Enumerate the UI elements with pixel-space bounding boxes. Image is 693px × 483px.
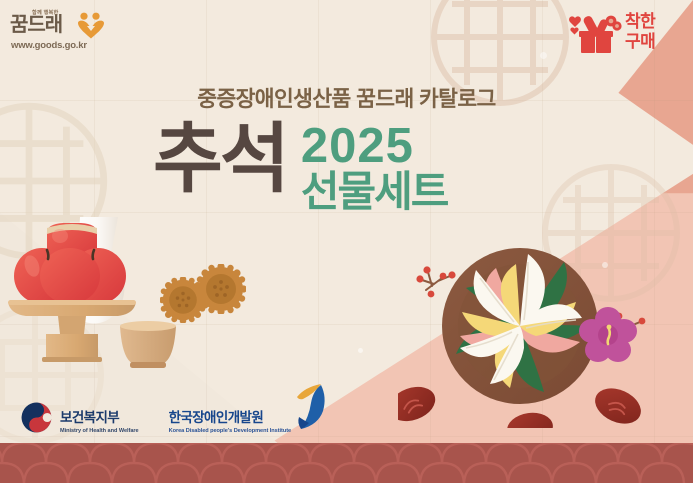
institute-name-ko: 한국장애인개발원 <box>169 406 291 426</box>
songpyeon-plate-illustration <box>398 228 688 433</box>
yakgwa-cookie-illustration <box>160 277 206 328</box>
campaign-line-2: 구매 <box>625 32 655 52</box>
jujube-icon <box>398 381 440 427</box>
bottom-decorative-band <box>0 443 693 483</box>
ministry-name-en: Ministry of Health and Welfare <box>60 428 139 434</box>
catalog-kicker-text: 중증장애인생산품 꿈드래 카탈로그 <box>0 82 693 113</box>
institute-name-en: Korea Disabled people's Development Inst… <box>169 428 291 434</box>
headline-main-chuseok: 추석 <box>153 124 287 197</box>
tea-cup-shape <box>120 321 176 368</box>
decorative-dot <box>358 348 363 353</box>
headline-subtitle: 선물세트 <box>301 171 448 214</box>
cloud-scallop-pattern-icon <box>0 443 693 483</box>
jujube-icon <box>590 382 647 428</box>
decorative-dot <box>540 52 547 59</box>
goods-kr-logo[interactable]: 함께 행복한 꿈드래 www.goods.go.kr <box>8 8 116 60</box>
footer-logo-row: 보건복지부 Ministry of Health and Welfare 한국장… <box>20 401 325 439</box>
poster-canvas: 함께 행복한 꿈드래 www.goods.go.kr <box>0 0 693 483</box>
taegeuk-icon <box>20 401 53 439</box>
wooden-offering-stand <box>8 300 136 362</box>
kodd-institute-logo[interactable]: 한국장애인개발원 Korea Disabled people's Develop… <box>169 406 325 434</box>
ministry-logo-text: 보건복지부 Ministry of Health and Welfare <box>60 406 139 434</box>
ministry-name-ko: 보건복지부 <box>60 406 139 426</box>
jujube-icon <box>505 410 555 428</box>
blue-bird-icon <box>291 383 329 436</box>
campaign-logo-text: 착한 구매 <box>625 12 655 52</box>
headline-year: 2025 <box>301 122 448 170</box>
campaign-line-1: 착한 <box>625 12 655 32</box>
headline-block: 추석 2025 선물세트 <box>153 118 447 214</box>
ministry-of-health-and-welfare-logo[interactable]: 보건복지부 Ministry of Health and Welfare <box>20 401 139 439</box>
gift-box-hearts-icon <box>567 12 623 61</box>
brand-url[interactable]: www.goods.go.kr <box>11 40 87 51</box>
institute-logo-text: 한국장애인개발원 Korea Disabled people's Develop… <box>169 406 291 434</box>
brand-wordmark: 꿈드래 <box>10 15 62 35</box>
chakhan-gumae-logo[interactable]: 착한 구매 <box>567 10 677 58</box>
